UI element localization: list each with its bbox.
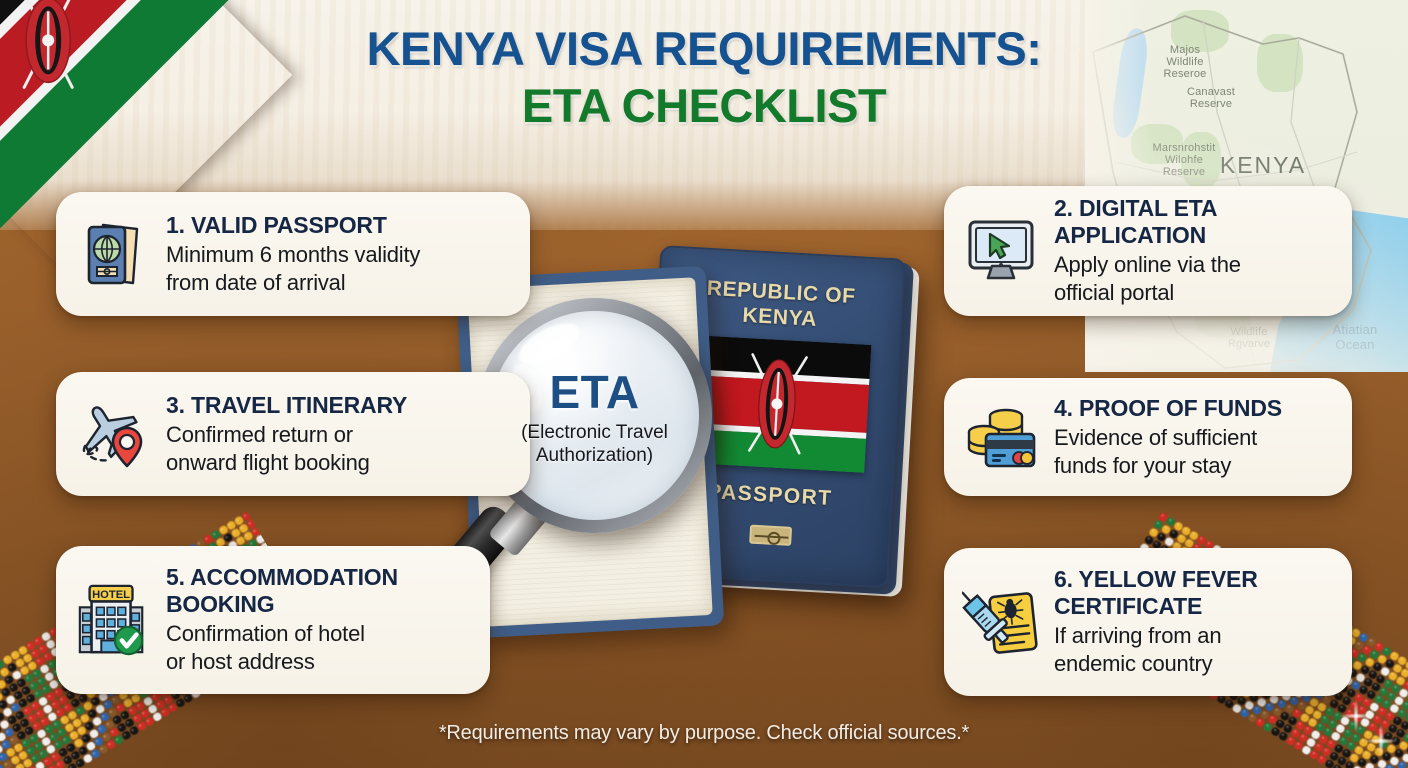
maasai-shield-icon [741, 346, 813, 462]
map-label-line: Canavast [1163, 86, 1259, 98]
infographic-canvas: Majos Wildlife Reseroe Canavast Reserve … [0, 0, 1408, 768]
map-label-line: Majos [1137, 44, 1233, 56]
requirement-card-travel-itinerary[interactable]: 3. TRAVEL ITINERARY Confirmed return or … [56, 372, 530, 496]
map-label-line: Wildlife [1137, 56, 1233, 68]
card-description: Minimum 6 months validity from date of a… [166, 241, 510, 297]
card-title: 3. TRAVEL ITINERARY [166, 392, 510, 419]
map-ocean-label: Atiatian Ocean [1307, 322, 1403, 352]
maasai-shield-icon [8, 0, 88, 95]
card-description: If arriving from an endemic country [1054, 622, 1332, 678]
card-description-line2: funds for your stay [1054, 452, 1332, 480]
card-title: 1. VALID PASSPORT [166, 212, 510, 239]
biometric-chip-icon [749, 525, 792, 546]
card-description-line2: or host address [166, 648, 470, 676]
center-illustration: REPUBLIC OF KENYA [455, 250, 955, 690]
airplane-route-pin-icon [74, 400, 152, 468]
card-description-line1: Evidence of sufficient [1054, 424, 1332, 452]
svg-text:HOTEL: HOTEL [92, 589, 130, 601]
requirement-card-valid-passport[interactable]: 1. VALID PASSPORT Minimum 6 months valid… [56, 192, 530, 316]
map-ocean-label-line: Ocean [1307, 337, 1403, 352]
card-title: 6. YELLOW FEVER CERTIFICATE [1054, 566, 1332, 620]
card-text: 2. DIGITAL ETA APPLICATION Apply online … [1054, 195, 1332, 307]
passport-icon [74, 219, 152, 289]
card-description-line1: Confirmed return or [166, 421, 510, 449]
map-label-line: Reseroe [1137, 68, 1233, 80]
card-text: 1. VALID PASSPORT Minimum 6 months valid… [166, 212, 510, 297]
card-text: 3. TRAVEL ITINERARY Confirmed return or … [166, 392, 510, 477]
requirement-card-accommodation-booking[interactable]: HOTEL 5. ACCOMMODATION BOOKING Conf [56, 546, 490, 694]
map-ocean-label-line: Atiatian [1307, 322, 1403, 337]
card-title: 5. ACCOMMODATION BOOKING [166, 564, 470, 618]
card-text: 5. ACCOMMODATION BOOKING Confirmation of… [166, 564, 470, 676]
eta-expansion-line1: (Electronic Travel [521, 421, 668, 444]
map-label-reserve: Majos Wildlife Reseroe [1137, 44, 1233, 80]
map-country-label: KENYA [1193, 152, 1333, 178]
map-label-reserve: Wildlife Rgvarve [1199, 326, 1299, 350]
eta-expansion: (Electronic Travel Authorization) [521, 421, 668, 467]
hotel-check-icon: HOTEL [74, 581, 152, 659]
card-description-line2: onward flight booking [166, 449, 510, 477]
card-description-line1: Confirmation of hotel [166, 620, 470, 648]
footer-disclaimer: *Requirements may vary by purpose. Check… [0, 722, 1408, 745]
card-description-line1: Minimum 6 months validity [166, 241, 510, 269]
card-description: Confirmed return or onward flight bookin… [166, 421, 510, 477]
card-description: Evidence of sufficient funds for your st… [1054, 424, 1332, 480]
map-label-line: Rgvarve [1199, 338, 1299, 350]
requirement-card-yellow-fever-certificate[interactable]: 6. YELLOW FEVER CERTIFICATE If arriving … [944, 548, 1352, 696]
coins-credit-card-icon [962, 404, 1040, 470]
card-description: Apply online via the official portal [1054, 251, 1332, 307]
eta-expansion-line2: Authorization) [521, 444, 668, 467]
card-text: 6. YELLOW FEVER CERTIFICATE If arriving … [1054, 566, 1332, 678]
card-title: 4. PROOF OF FUNDS [1054, 395, 1332, 422]
map-label-reserve: Canavast Reserve [1163, 86, 1259, 110]
card-title: 2. DIGITAL ETA APPLICATION [1054, 195, 1332, 249]
syringe-certificate-icon [962, 585, 1040, 659]
card-description-line2: endemic country [1054, 650, 1332, 678]
card-text: 4. PROOF OF FUNDS Evidence of sufficient… [1054, 395, 1332, 480]
card-description-line2: from date of arrival [166, 269, 510, 297]
map-label-line: Wildlife [1199, 326, 1299, 338]
card-description: Confirmation of hotel or host address [166, 620, 470, 676]
map-label-line: Reserve [1163, 98, 1259, 110]
eta-acronym: ETA [549, 365, 639, 419]
card-description-line2: official portal [1054, 279, 1332, 307]
monitor-cursor-icon [962, 218, 1040, 284]
card-description-line1: If arriving from an [1054, 622, 1332, 650]
requirement-card-proof-of-funds[interactable]: 4. PROOF OF FUNDS Evidence of sufficient… [944, 378, 1352, 496]
requirement-card-digital-eta-application[interactable]: 2. DIGITAL ETA APPLICATION Apply online … [944, 186, 1352, 316]
card-description-line1: Apply online via the [1054, 251, 1332, 279]
